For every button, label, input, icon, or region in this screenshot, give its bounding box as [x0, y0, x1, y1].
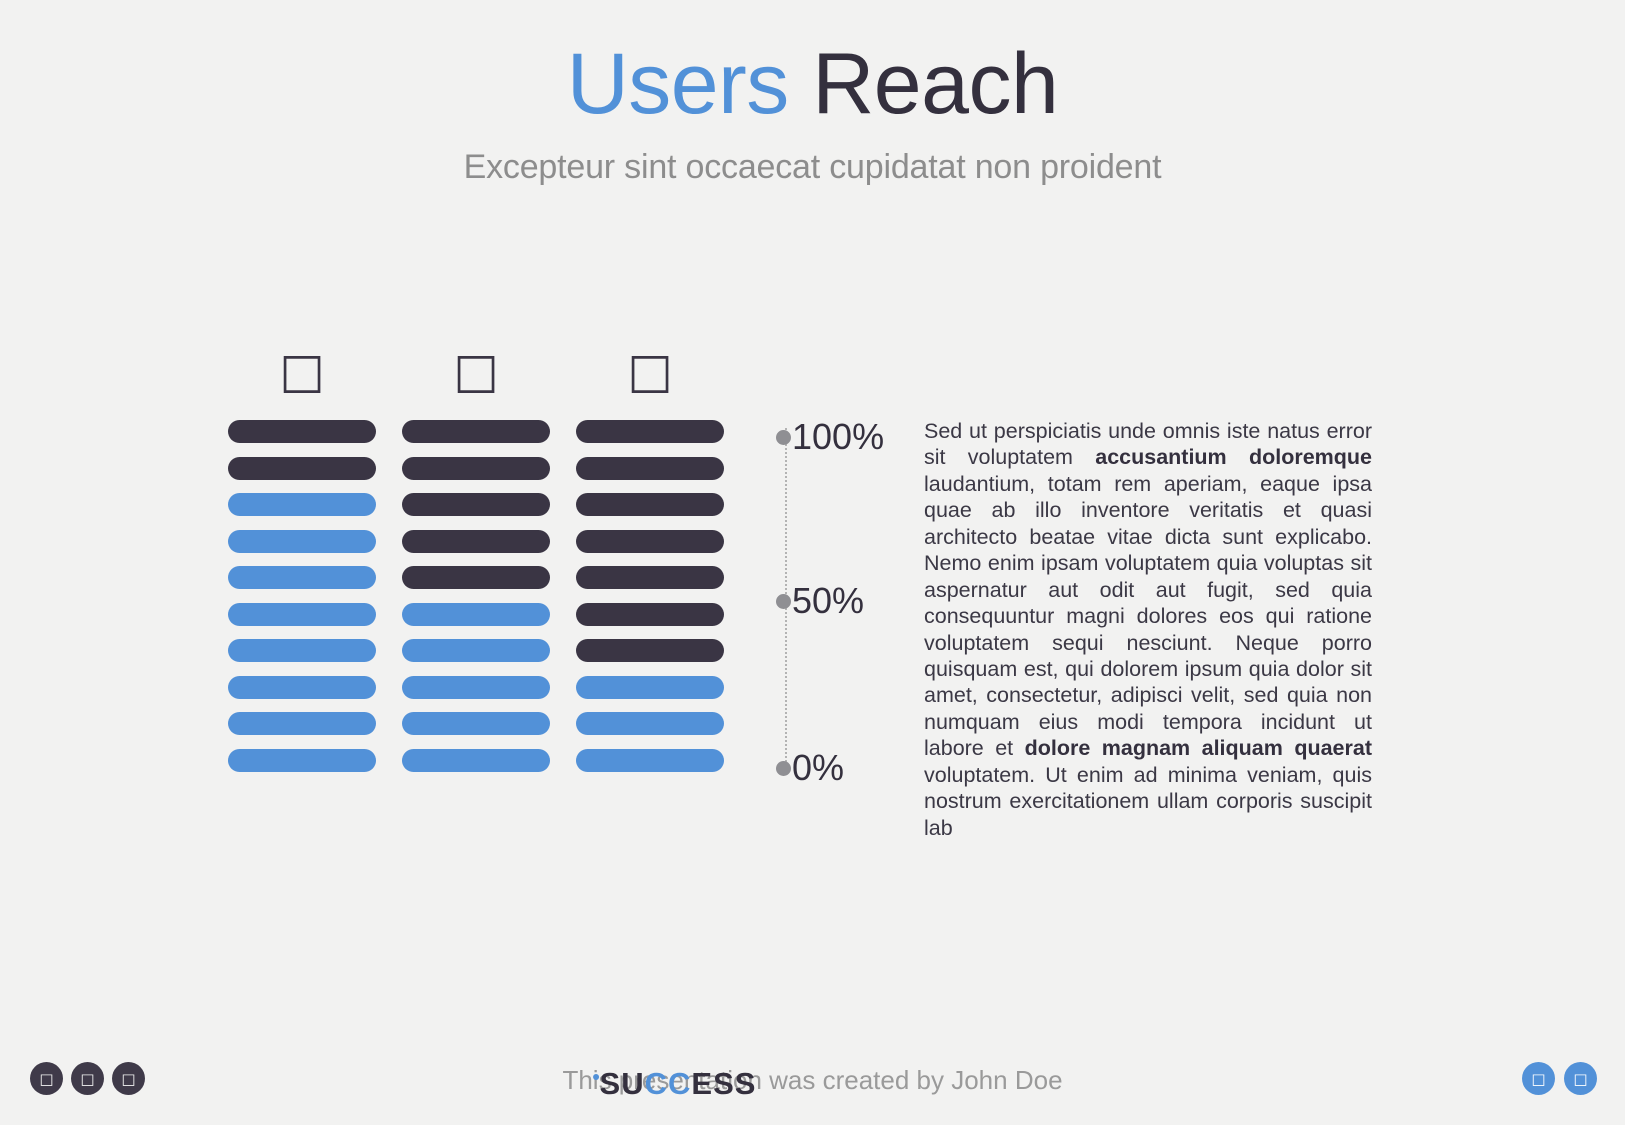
- title-main-word: Reach: [812, 36, 1058, 132]
- column-1-icon: □: [279, 340, 324, 402]
- axis-dot-icon: [776, 761, 791, 776]
- body-text-bold1: accusantium doloremque: [1095, 445, 1372, 469]
- segment-filled: [228, 530, 376, 553]
- axis-tick-label: 50%: [792, 580, 864, 622]
- axis-tick-label: 0%: [792, 747, 844, 789]
- slide-content: □ □: [0, 340, 1625, 841]
- page-subtitle: Excepteur sint occaecat cupidatat non pr…: [0, 148, 1625, 187]
- segment-filled: [228, 712, 376, 735]
- segment-empty: [576, 530, 724, 553]
- segmented-bar-chart: □ □: [228, 340, 724, 772]
- segment-filled: [402, 603, 550, 626]
- axis-tick-50: 50%: [776, 580, 864, 622]
- segment-filled: [402, 712, 550, 735]
- social-twitter-button[interactable]: □: [71, 1062, 104, 1095]
- column-3-icon: □: [627, 340, 672, 402]
- segment-filled: [228, 603, 376, 626]
- segment-empty: [402, 530, 550, 553]
- chevron-left-icon: □: [1531, 1070, 1545, 1088]
- column-2-icon: □: [453, 340, 498, 402]
- social-linkedin-button[interactable]: □: [112, 1062, 145, 1095]
- segment-filled: [402, 676, 550, 699]
- logo-accent: CC: [645, 1066, 692, 1101]
- body-text-part3: voluptatem. Ut enim ad minima veniam, qu…: [924, 763, 1372, 840]
- segment-filled: [228, 749, 376, 772]
- axis-tick-label: 100%: [792, 416, 884, 458]
- axis-tick-100: 100%: [776, 416, 884, 458]
- segment-filled: [402, 639, 550, 662]
- segment-empty: [576, 420, 724, 443]
- bar-column-2: □: [402, 340, 550, 772]
- segment-filled: [576, 749, 724, 772]
- next-slide-button[interactable]: □: [1564, 1062, 1597, 1095]
- logo-post: ESS: [691, 1066, 756, 1101]
- segment-filled: [228, 639, 376, 662]
- segment-empty: [228, 457, 376, 480]
- social-links: □ □ □: [30, 1062, 145, 1095]
- brand-logo: SUCCESS: [593, 1066, 757, 1102]
- axis-tick-0: 0%: [776, 747, 844, 789]
- column-2-segments: [402, 420, 550, 772]
- page-title: Users Reach: [0, 38, 1625, 131]
- column-3-segments: [576, 420, 724, 772]
- segment-filled: [576, 676, 724, 699]
- body-text-bold2: dolore magnam aliquam quaerat: [1025, 736, 1372, 760]
- segment-filled: [576, 712, 724, 735]
- segment-empty: [576, 566, 724, 589]
- chevron-right-icon: □: [1573, 1070, 1587, 1088]
- social-facebook-button[interactable]: □: [30, 1062, 63, 1095]
- slide-navigation: □ □: [1522, 1062, 1597, 1095]
- axis-dot-icon: [776, 430, 791, 445]
- column-1-segments: [228, 420, 376, 772]
- axis-dot-icon: [776, 594, 791, 609]
- segment-empty: [576, 603, 724, 626]
- twitter-icon: □: [80, 1070, 94, 1088]
- segment-empty: [402, 420, 550, 443]
- segment-empty: [576, 639, 724, 662]
- logo-dot-icon: [593, 1074, 599, 1080]
- body-paragraph: Sed ut perspiciatis unde omnis iste natu…: [924, 418, 1372, 841]
- logo-pre: SU: [600, 1066, 645, 1101]
- segment-filled: [402, 749, 550, 772]
- linkedin-icon: □: [121, 1070, 135, 1088]
- percentage-axis: 100% 50% 0%: [776, 420, 896, 770]
- segment-empty: [576, 457, 724, 480]
- segment-empty: [576, 493, 724, 516]
- body-text-part2: laudantium, totam rem aperiam, eaque ips…: [924, 472, 1372, 760]
- slide-header: Users Reach Excepteur sint occaecat cupi…: [0, 0, 1625, 187]
- bar-column-1: □: [228, 340, 376, 772]
- segment-empty: [402, 457, 550, 480]
- segment-empty: [402, 566, 550, 589]
- prev-slide-button[interactable]: □: [1522, 1062, 1555, 1095]
- bar-column-3: □: [576, 340, 724, 772]
- segment-filled: [228, 493, 376, 516]
- segment-empty: [402, 493, 550, 516]
- segment-filled: [228, 566, 376, 589]
- title-accent-word: Users: [567, 36, 789, 132]
- segment-empty: [228, 420, 376, 443]
- segment-filled: [228, 676, 376, 699]
- facebook-icon: □: [39, 1070, 53, 1088]
